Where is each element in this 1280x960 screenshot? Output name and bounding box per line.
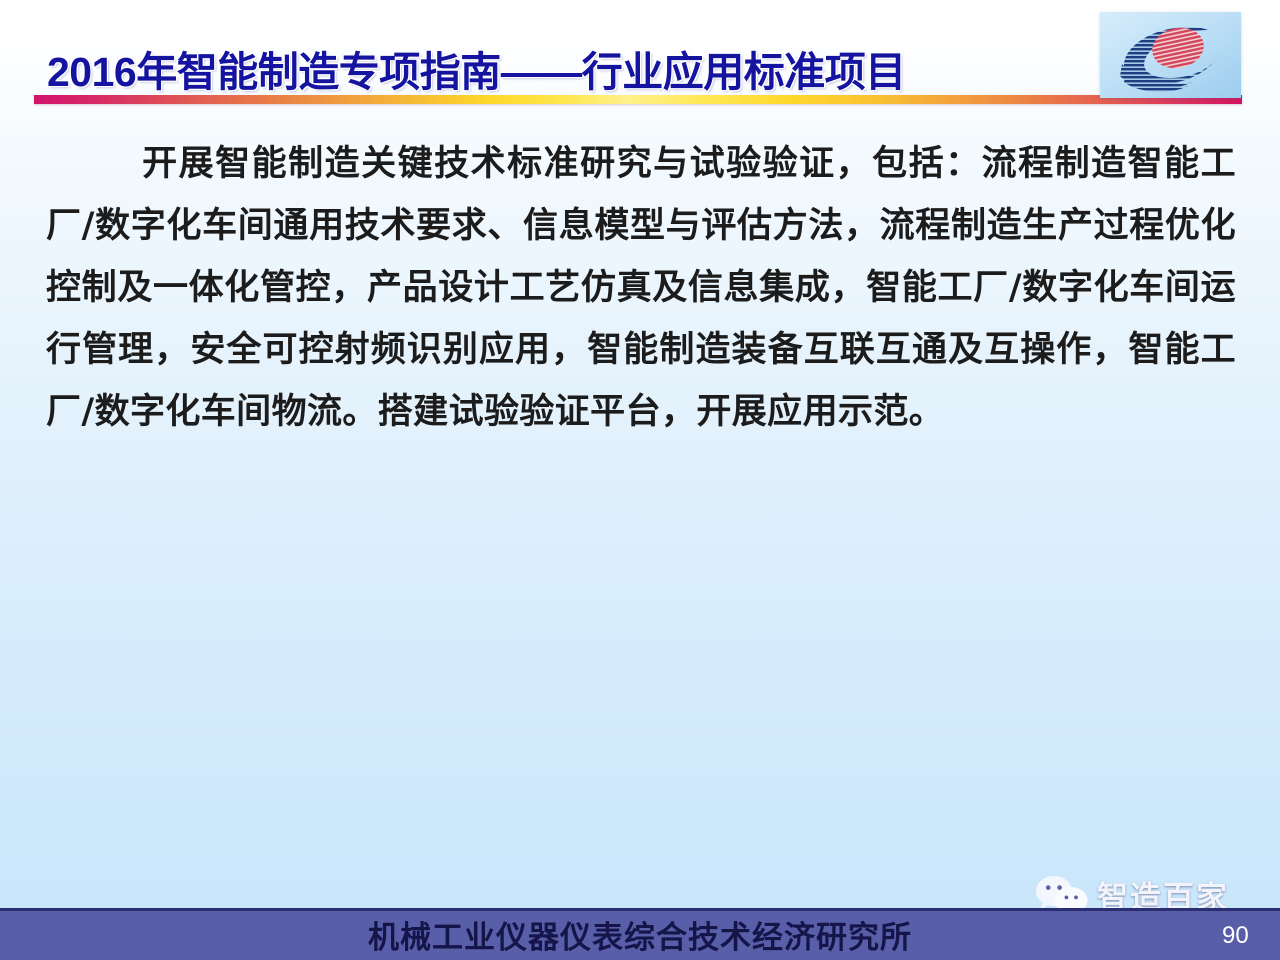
institute-swoosh-logo-icon: [1100, 12, 1241, 98]
presentation-slide: 2016年智能制造专项指南——行业应用标准项目: [0, 0, 1280, 960]
title-underline-rule: [34, 95, 1242, 104]
footer-organization-name: 机械工业仪器仪表综合技术经济研究所: [0, 912, 1280, 957]
slide-body-text: 开展智能制造关键技术标准研究与试验验证，包括：流程制造智能工厂/数字化车间通用技…: [46, 133, 1236, 443]
body-paragraph: 开展智能制造关键技术标准研究与试验验证，包括：流程制造智能工厂/数字化车间通用技…: [46, 144, 1236, 432]
organization-logo: [1100, 12, 1241, 98]
slide-header: 2016年智能制造专项指南——行业应用标准项目: [0, 0, 1280, 120]
page-number: 90: [1222, 922, 1249, 950]
slide-title: 2016年智能制造专项指南——行业应用标准项目: [47, 38, 906, 98]
